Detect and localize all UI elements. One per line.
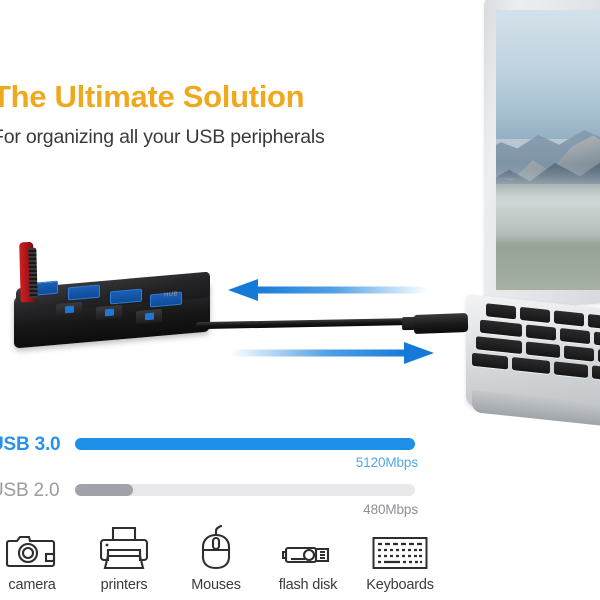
- flash-disk-icon: [282, 524, 334, 570]
- wallpaper-sky: [496, 10, 600, 139]
- usb2-bar-track: [75, 484, 415, 496]
- wallpaper-mist: [496, 167, 600, 240]
- usb3-bar-track: [75, 438, 415, 450]
- device-item-printers: printers: [78, 524, 170, 593]
- device-item-keyboards: Keyboards: [354, 524, 446, 593]
- usb-a-connector: [414, 313, 468, 334]
- device-item-camera: camera: [0, 524, 78, 593]
- device-item-mouses: Mouses: [170, 524, 262, 593]
- flash-drive-grip: [28, 248, 37, 298]
- hub-switch-1[interactable]: [56, 302, 82, 317]
- hub-port-3: [110, 289, 142, 305]
- hub-switch-3[interactable]: [136, 309, 162, 324]
- keyboard-icon: [372, 524, 428, 570]
- data-transfer-arrow-right: [230, 342, 434, 364]
- speed-comparison-chart: USB 3.0 5120Mbps USB 2.0 480Mbps: [0, 430, 430, 522]
- laptop-screen-wallpaper: [496, 10, 600, 290]
- usb-hub-product: HUB: [4, 240, 234, 370]
- usb3-bar-fill: [75, 438, 415, 450]
- page-subtitle: For organizing all your USB peripherals: [0, 126, 452, 149]
- hub-brand-label: HUB: [164, 291, 178, 298]
- laptop-illustration: [466, 0, 600, 424]
- page-title: The Ultimate Solution: [0, 80, 452, 114]
- speed-row-usb3: USB 3.0 5120Mbps: [0, 430, 430, 476]
- speed-row-usb2: USB 2.0 480Mbps: [0, 476, 430, 522]
- hub-port-2: [68, 285, 100, 301]
- device-label-camera: camera: [8, 577, 55, 593]
- printer-icon: [100, 524, 148, 570]
- usb2-value: 480Mbps: [363, 502, 418, 517]
- device-label-printers: printers: [101, 577, 148, 593]
- hub-switch-2[interactable]: [96, 305, 122, 320]
- headline-block: The Ultimate Solution For organizing all…: [0, 80, 452, 149]
- usb2-label: USB 2.0: [0, 480, 59, 502]
- data-transfer-arrow-left: [228, 279, 428, 301]
- product-marketing-banner: The Ultimate Solution For organizing all…: [0, 0, 600, 600]
- device-item-flash-disk: flash disk: [262, 524, 354, 593]
- camera-icon: [6, 524, 58, 570]
- usb2-bar-fill: [75, 484, 133, 496]
- usb3-value: 5120Mbps: [356, 455, 418, 470]
- usb-cable: [196, 316, 436, 332]
- red-usb-flash-drive: [19, 242, 43, 307]
- device-label-flash-disk: flash disk: [279, 577, 337, 593]
- compatible-devices-strip: camera printers: [0, 524, 446, 593]
- mouse-icon: [196, 524, 236, 570]
- usb3-label: USB 3.0: [0, 434, 60, 456]
- cable-wire: [196, 318, 424, 329]
- device-label-mouses: Mouses: [191, 577, 241, 593]
- device-label-keyboards: Keyboards: [366, 577, 434, 593]
